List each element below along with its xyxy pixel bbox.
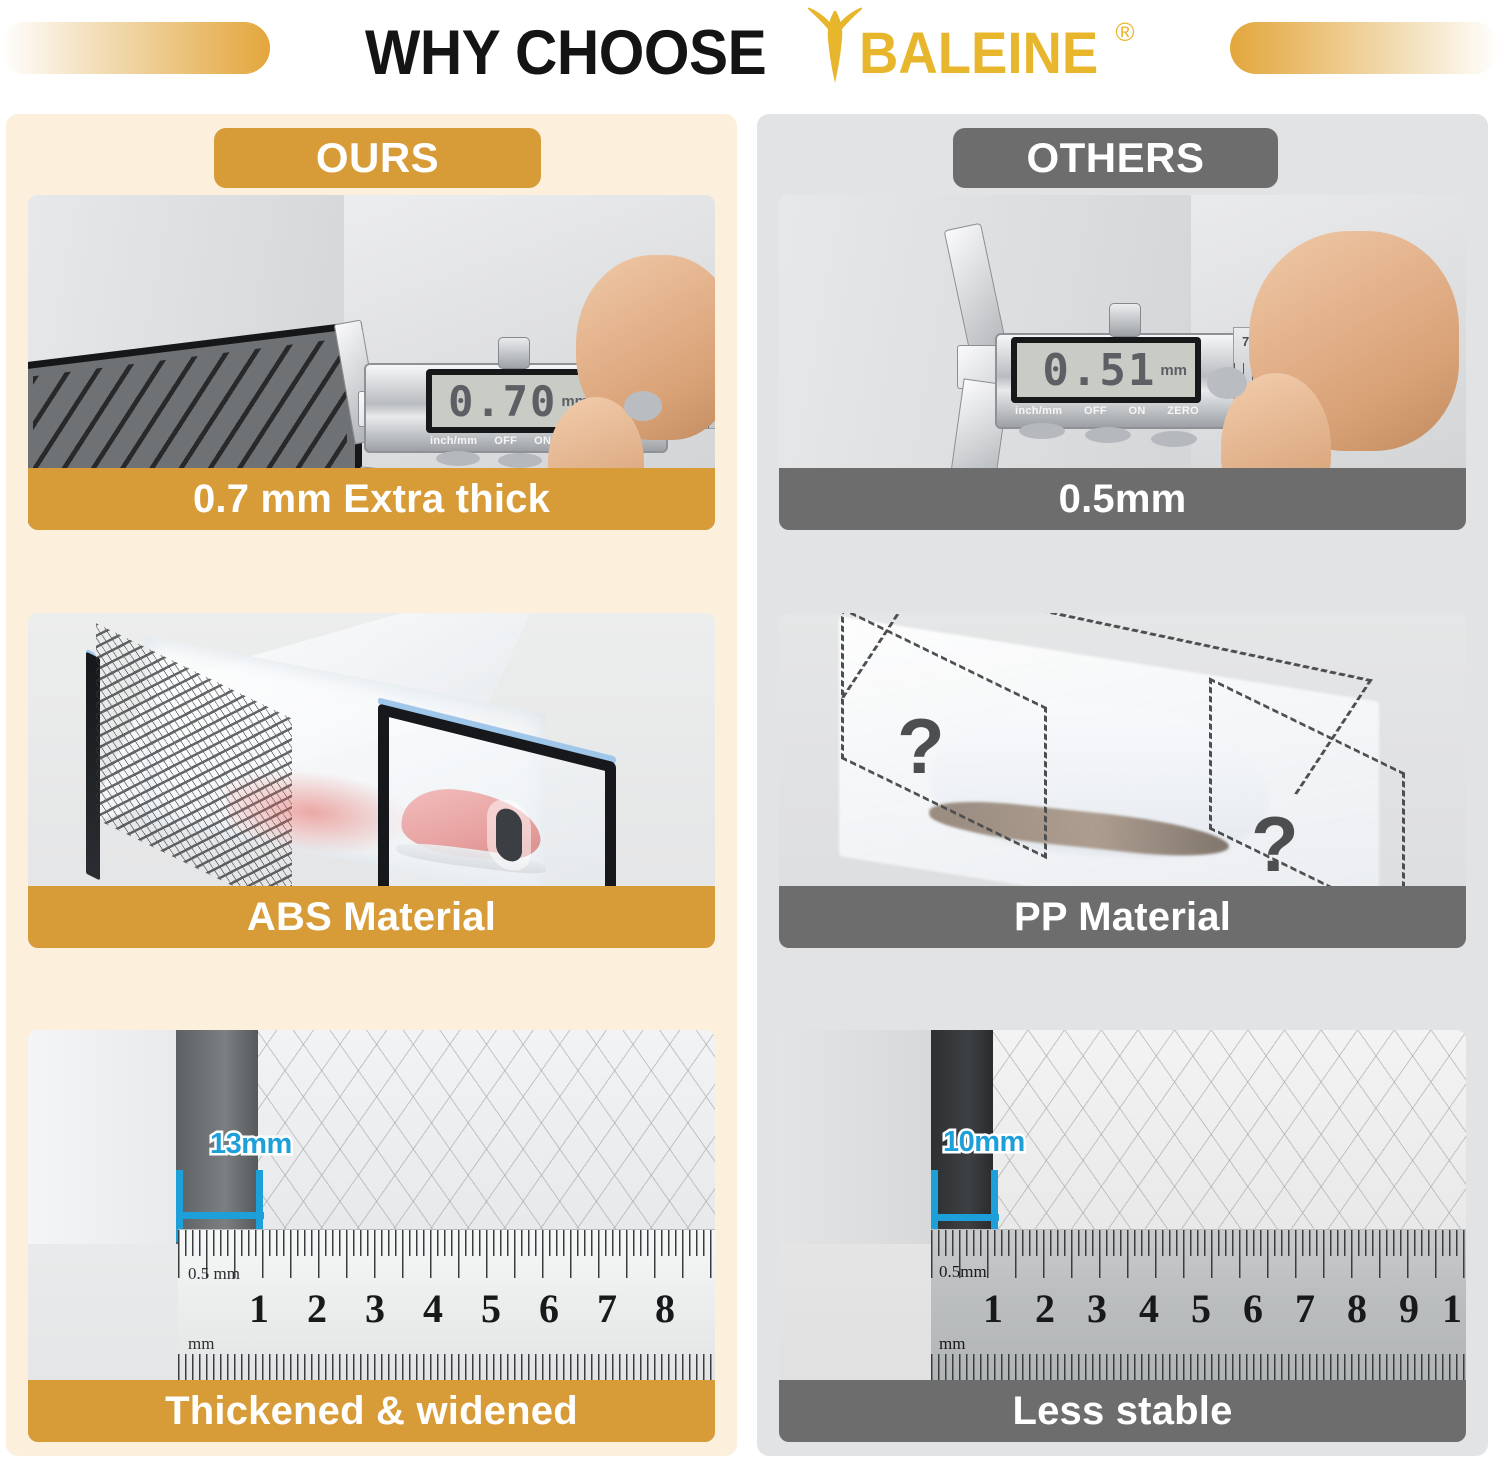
ruler-ticks-fine-top (931, 1230, 1466, 1256)
caliper-btn-inchmm[interactable]: inch/mm (430, 435, 477, 447)
caliper-reading-unit: mm (1160, 362, 1187, 379)
caliper-btn-on[interactable]: ON (1129, 405, 1146, 417)
card-ours-stability: 13mm 0.5 mm 1 2 3 4 5 6 7 8 (28, 1030, 715, 1442)
comparison-column-ours: OURS 0.70 mm inch/mm OFF ON ZERO (6, 114, 737, 1456)
caliper-button-2[interactable] (1085, 427, 1131, 443)
ruler-num-8: 8 (636, 1285, 694, 1332)
ruler-num-1: 1 (967, 1285, 1019, 1332)
box-mesh-panel (258, 1030, 715, 1242)
ruler-num-6: 6 (1227, 1285, 1279, 1332)
caption-ours-material: ABS Material (28, 886, 715, 948)
ruler-num-2: 2 (288, 1285, 346, 1332)
caliper-btn-off[interactable]: OFF (494, 435, 517, 447)
caption-ours-stability: Thickened & widened (28, 1380, 715, 1442)
tab-ours[interactable]: OURS (214, 128, 541, 188)
caliper-button-1[interactable] (436, 451, 480, 466)
photo-ours-ruler: 13mm 0.5 mm 1 2 3 4 5 6 7 8 (28, 1030, 715, 1442)
caliper-button-2[interactable] (498, 453, 542, 468)
caliper-button-3[interactable] (1151, 431, 1197, 447)
ruler-ticks-major (931, 1256, 1466, 1278)
ruler-ticks-fine-bottom (178, 1354, 715, 1380)
page-title: WHY CHOOSE (365, 22, 766, 85)
caption-others-material: PP Material (779, 886, 1466, 948)
card-others-stability: 10mm 0.5mm 1 2 3 4 5 6 7 8 (779, 1030, 1466, 1442)
caliper-btn-off[interactable]: OFF (1084, 405, 1107, 417)
caliper-btn-zero[interactable]: ZERO (1167, 405, 1199, 417)
ruler-num-5: 5 (1175, 1285, 1227, 1332)
ruler-num-4: 4 (1123, 1285, 1175, 1332)
caption-others-stability: Less stable (779, 1380, 1466, 1442)
caliper-roller (1207, 367, 1247, 399)
caption-others-thickness: 0.5mm (779, 468, 1466, 530)
photo-ours-abs-box: ABS Material (28, 613, 715, 948)
measurement-label-10mm: 10mm (943, 1126, 1025, 1159)
tab-others[interactable]: OTHERS (953, 128, 1278, 188)
ruler-label-half-mm: 0.5 mm (188, 1264, 240, 1284)
page-header: WHY CHOOSE BALEINE ® (0, 0, 1500, 106)
ruler-num-7: 7 (1279, 1285, 1331, 1332)
card-ours-thickness: 0.70 mm inch/mm OFF ON ZERO 70 80 90 (28, 195, 715, 530)
ruler-ticks-fine-top (178, 1230, 715, 1256)
registered-trademark-symbol: ® (1115, 17, 1134, 48)
card-ours-material: ABS Material (28, 613, 715, 948)
caliper-thumb-screw (498, 337, 530, 369)
ruler-numbers: 1 2 3 4 5 6 7 8 (178, 1284, 715, 1332)
ruler-num-6: 6 (520, 1285, 578, 1332)
ruler-ticks-major (178, 1256, 715, 1278)
header-decoration-left (0, 22, 270, 74)
caliper-button-labels: inch/mm OFF ON ZERO (1015, 405, 1199, 417)
ruler-num-9: 9 (1383, 1285, 1435, 1332)
photo-ours-caliper: 0.70 mm inch/mm OFF ON ZERO 70 80 90 (28, 195, 715, 530)
caliper-thumb-screw (1109, 303, 1141, 337)
whale-tail-icon (807, 7, 863, 83)
ruler-white: 0.5 mm 1 2 3 4 5 6 7 8 mm (178, 1229, 715, 1380)
measurement-label-13mm: 13mm (210, 1128, 292, 1161)
caliper-btn-inchmm[interactable]: inch/mm (1015, 405, 1062, 417)
caliper-lcd-display: 0.51 mm (1011, 337, 1201, 403)
ruler-num-1: 1 (230, 1285, 288, 1332)
comparison-column-others: OTHERS 0.51 mm inch/mm OFF ON ZERO (757, 114, 1488, 1456)
brand-lockup: BALEINE ® (807, 15, 1135, 91)
ruler-num-3: 3 (346, 1285, 404, 1332)
ruler-num-2: 2 (1019, 1285, 1071, 1332)
box-mesh-panel (993, 1030, 1466, 1242)
question-mark-right: ? (1251, 805, 1299, 883)
ruler-num-8: 8 (1331, 1285, 1383, 1332)
caption-ours-thickness: 0.7 mm Extra thick (28, 468, 715, 530)
ruler-ticks-fine-bottom (931, 1354, 1466, 1380)
caliper-button-1[interactable] (1019, 423, 1065, 439)
shoebox-handle (496, 806, 522, 864)
header-title-group: WHY CHOOSE BALEINE ® (351, 15, 1148, 91)
ruler-numbers: 1 2 3 4 5 6 7 8 9 1 (931, 1284, 1466, 1332)
ruler-label-mm: mm (939, 1334, 965, 1354)
ruler-num-10: 1 (1435, 1285, 1466, 1332)
ruler-steel: 0.5mm 1 2 3 4 5 6 7 8 9 1 mm (931, 1229, 1466, 1380)
ruler-num-4: 4 (404, 1285, 462, 1332)
ruler-num-7: 7 (578, 1285, 636, 1332)
caliper-roller (624, 391, 662, 421)
card-others-material: ? ? PP Material (779, 613, 1466, 948)
ruler-num-3: 3 (1071, 1285, 1123, 1332)
ruler-label-mm: mm (188, 1334, 214, 1354)
brand-name: BALEINE (859, 25, 1098, 83)
ruler-label-half-mm: 0.5mm (939, 1262, 987, 1282)
caliper-reading: 0.70 (448, 377, 557, 426)
header-decoration-right (1230, 22, 1500, 74)
scene-left-wall (779, 1030, 931, 1244)
question-mark-left: ? (897, 707, 945, 785)
photo-others-pp-box: ? ? PP Material (779, 613, 1466, 948)
scene-left-wall (28, 1030, 178, 1244)
photo-others-caliper: 0.51 mm inch/mm OFF ON ZERO 70 80 90 (779, 195, 1466, 530)
card-others-thickness: 0.51 mm inch/mm OFF ON ZERO 70 80 90 (779, 195, 1466, 530)
photo-others-ruler: 10mm 0.5mm 1 2 3 4 5 6 7 8 (779, 1030, 1466, 1442)
caliper-reading: 0.51 (1042, 345, 1156, 396)
ruler-num-5: 5 (462, 1285, 520, 1332)
